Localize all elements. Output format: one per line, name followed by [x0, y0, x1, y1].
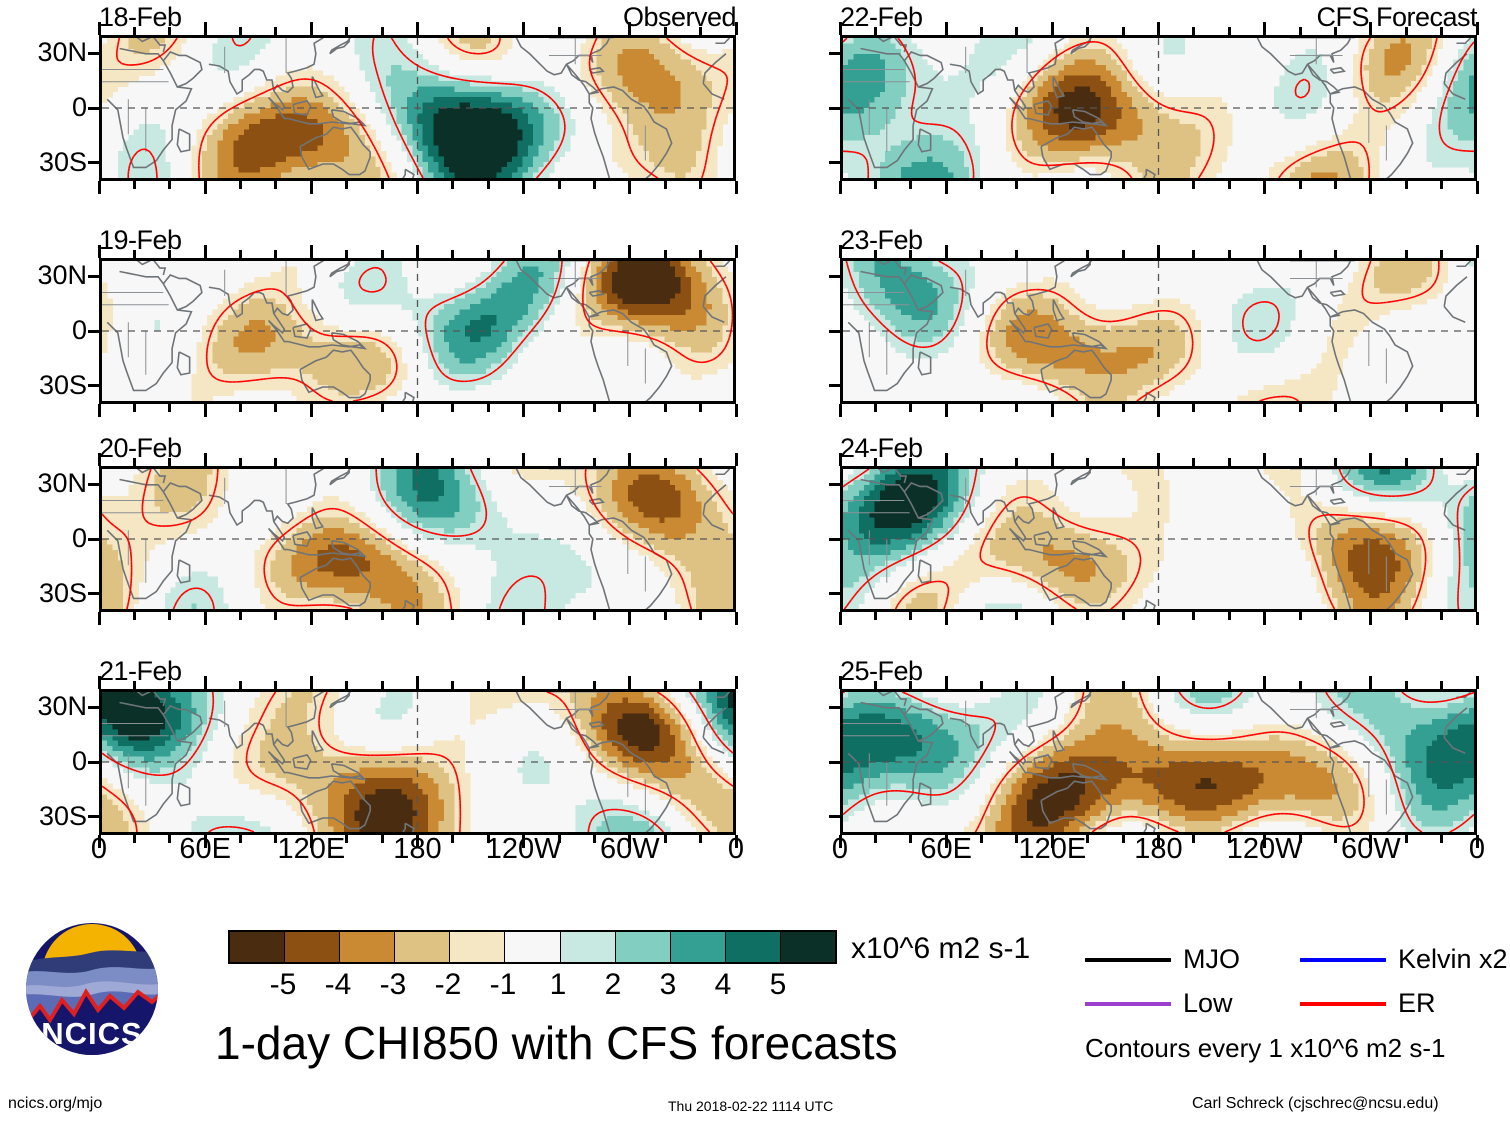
- x-tick: [1334, 681, 1337, 689]
- x-tick: [628, 404, 631, 417]
- x-tick: [487, 458, 490, 466]
- x-tick: [345, 250, 348, 258]
- x-tick: [1086, 681, 1089, 689]
- legend-label: MJO: [1183, 946, 1240, 973]
- map-canvas: [840, 258, 1477, 404]
- x-tick: [1157, 245, 1160, 258]
- x-tick: [980, 681, 983, 689]
- y-tick: [88, 706, 100, 709]
- x-tick: [1228, 458, 1231, 466]
- x-tick: [1122, 250, 1125, 258]
- x-tick: [874, 458, 877, 466]
- x-tick: [909, 404, 912, 412]
- x-tick: [664, 250, 667, 258]
- x-tick: [274, 681, 277, 689]
- map-panel-18-feb: 18-FebObserved30N030S: [99, 35, 736, 181]
- x-tick: [1086, 404, 1089, 412]
- x-tick: [204, 404, 207, 417]
- x-axis-label: 60W: [1341, 835, 1401, 864]
- y-axis-label: 30S: [3, 149, 87, 176]
- y-tick: [88, 52, 100, 55]
- x-tick: [239, 612, 242, 620]
- map-panel-24-feb: 24-Feb: [840, 466, 1477, 612]
- x-tick: [381, 404, 384, 412]
- x-tick: [1334, 27, 1337, 35]
- x-tick: [839, 612, 842, 625]
- x-tick: [345, 27, 348, 35]
- y-tick: [829, 275, 841, 278]
- y-axis-label: 0: [3, 317, 87, 344]
- x-tick: [874, 681, 877, 689]
- colorbar-swatch: [615, 932, 670, 962]
- map-canvas: [99, 466, 736, 612]
- x-tick: [945, 453, 948, 466]
- x-tick: [628, 676, 631, 689]
- y-axis-label: 0: [3, 748, 87, 775]
- contour-interval-note: Contours every 1 x10^6 m2 s-1: [1085, 1035, 1445, 1061]
- x-tick: [1299, 250, 1302, 258]
- x-tick: [1369, 676, 1372, 689]
- y-tick: [829, 538, 841, 541]
- x-tick: [168, 458, 171, 466]
- x-tick: [664, 404, 667, 412]
- x-tick: [945, 612, 948, 625]
- x-tick: [133, 404, 136, 412]
- x-tick: [239, 27, 242, 35]
- x-tick: [239, 458, 242, 466]
- x-tick: [1051, 245, 1054, 258]
- x-tick: [1263, 245, 1266, 258]
- x-tick: [1051, 404, 1054, 417]
- y-axis-label: 0: [3, 525, 87, 552]
- x-tick: [909, 27, 912, 35]
- x-tick: [1263, 612, 1266, 625]
- x-tick: [1476, 22, 1479, 35]
- x-tick: [310, 181, 313, 194]
- x-tick: [1369, 181, 1372, 194]
- x-tick: [1192, 681, 1195, 689]
- x-tick: [204, 181, 207, 194]
- colorbar-swatch: [230, 932, 284, 962]
- y-tick: [88, 815, 100, 818]
- legend-label: ER: [1398, 990, 1436, 1017]
- x-tick: [945, 676, 948, 689]
- x-tick: [628, 22, 631, 35]
- x-tick: [98, 404, 101, 417]
- footer-timestamp: Thu 2018-02-22 1114 UTC: [668, 1098, 833, 1114]
- x-tick: [239, 681, 242, 689]
- x-tick: [522, 181, 525, 194]
- x-tick: [1263, 22, 1266, 35]
- x-tick: [699, 681, 702, 689]
- x-tick: [133, 458, 136, 466]
- colorbar-tick-label: -1: [490, 970, 517, 1000]
- x-tick: [593, 612, 596, 620]
- colorbar-swatch: [670, 932, 725, 962]
- x-tick: [345, 458, 348, 466]
- legend-line-swatch: [1300, 1002, 1386, 1006]
- figure-title: 1-day CHI850 with CFS forecasts: [215, 1020, 898, 1066]
- x-tick: [1157, 22, 1160, 35]
- x-tick: [1299, 681, 1302, 689]
- x-tick: [1440, 404, 1443, 412]
- colorbar-tick-label: -3: [380, 970, 407, 1000]
- colorbar-swatch: [339, 932, 394, 962]
- y-tick: [88, 161, 100, 164]
- x-tick: [980, 458, 983, 466]
- x-tick: [735, 245, 738, 258]
- x-tick: [839, 181, 842, 194]
- x-tick: [1405, 404, 1408, 412]
- x-tick: [558, 458, 561, 466]
- x-tick: [1228, 27, 1231, 35]
- x-tick: [1369, 22, 1372, 35]
- x-tick: [133, 681, 136, 689]
- colorbar-swatch: [449, 932, 504, 962]
- x-tick: [1405, 181, 1408, 189]
- x-tick: [1263, 181, 1266, 194]
- x-tick: [381, 612, 384, 620]
- x-tick: [1015, 181, 1018, 189]
- x-tick: [522, 676, 525, 689]
- x-tick: [310, 612, 313, 625]
- column-header-0: Observed: [623, 4, 736, 31]
- x-tick: [133, 27, 136, 35]
- map-canvas: [99, 258, 736, 404]
- x-tick: [1334, 458, 1337, 466]
- y-tick: [88, 384, 100, 387]
- x-tick: [699, 250, 702, 258]
- y-axis-label: 30N: [3, 693, 87, 720]
- x-tick: [381, 681, 384, 689]
- colorbar-tick-label: -5: [270, 970, 297, 1000]
- x-tick: [664, 181, 667, 189]
- x-tick: [1334, 250, 1337, 258]
- x-tick: [593, 27, 596, 35]
- x-tick: [1440, 27, 1443, 35]
- map-canvas: [840, 466, 1477, 612]
- x-tick: [1405, 681, 1408, 689]
- x-tick: [628, 612, 631, 625]
- y-axis-label: 30N: [3, 262, 87, 289]
- x-tick: [274, 27, 277, 35]
- x-tick: [416, 245, 419, 258]
- x-tick: [699, 612, 702, 620]
- x-tick: [593, 404, 596, 412]
- x-tick: [558, 27, 561, 35]
- x-tick: [874, 404, 877, 412]
- x-tick: [1192, 181, 1195, 189]
- x-tick: [1263, 453, 1266, 466]
- x-tick: [945, 22, 948, 35]
- x-tick: [1299, 458, 1302, 466]
- x-tick: [980, 27, 983, 35]
- x-tick: [735, 404, 738, 417]
- x-tick: [168, 681, 171, 689]
- x-tick: [558, 250, 561, 258]
- y-tick: [88, 592, 100, 595]
- x-tick: [1476, 404, 1479, 417]
- x-tick: [1369, 404, 1372, 417]
- x-tick: [1440, 458, 1443, 466]
- x-tick: [1015, 250, 1018, 258]
- x-tick: [98, 245, 101, 258]
- x-tick: [381, 250, 384, 258]
- x-tick: [1476, 453, 1479, 466]
- map-canvas: [99, 689, 736, 835]
- x-tick: [98, 22, 101, 35]
- x-tick: [1228, 681, 1231, 689]
- x-tick: [168, 181, 171, 189]
- x-axis-label: 0: [91, 835, 107, 864]
- x-tick: [664, 612, 667, 620]
- x-tick: [1015, 458, 1018, 466]
- x-tick: [1086, 181, 1089, 189]
- x-tick: [451, 250, 454, 258]
- x-tick: [310, 404, 313, 417]
- x-tick: [451, 458, 454, 466]
- x-tick: [1299, 612, 1302, 620]
- x-tick: [1299, 404, 1302, 412]
- x-tick: [839, 676, 842, 689]
- colorbar-tick-label: 1: [550, 970, 567, 1000]
- x-tick: [310, 245, 313, 258]
- x-tick: [98, 181, 101, 194]
- x-tick: [204, 22, 207, 35]
- x-tick: [204, 453, 207, 466]
- y-tick: [88, 483, 100, 486]
- x-tick: [381, 181, 384, 189]
- y-tick: [829, 761, 841, 764]
- y-tick: [829, 52, 841, 55]
- colorbar-tick-label: 4: [715, 970, 732, 1000]
- x-tick: [839, 245, 842, 258]
- x-tick: [1299, 181, 1302, 189]
- x-tick: [980, 181, 983, 189]
- x-tick: [416, 612, 419, 625]
- x-tick: [1334, 181, 1337, 189]
- x-tick: [451, 181, 454, 189]
- x-tick: [274, 612, 277, 620]
- colorbar-tick-label: -4: [325, 970, 352, 1000]
- colorbar-units-label: x10^6 m2 s-1: [851, 934, 1030, 964]
- x-axis-left: 060E120E180120W60W0: [99, 835, 736, 869]
- x-axis-label: 180: [1134, 835, 1182, 864]
- legend-label: Low: [1183, 990, 1233, 1017]
- legend-line-swatch: [1085, 958, 1171, 962]
- colorbar-tick-label: 2: [605, 970, 622, 1000]
- x-tick: [1015, 404, 1018, 412]
- x-tick: [558, 181, 561, 189]
- x-tick: [133, 612, 136, 620]
- x-tick: [1157, 453, 1160, 466]
- footer-left[interactable]: ncics.org/mjo: [8, 1096, 102, 1112]
- x-tick: [558, 681, 561, 689]
- x-tick: [1086, 612, 1089, 620]
- x-tick: [1051, 22, 1054, 35]
- x-tick: [593, 181, 596, 189]
- x-tick: [381, 458, 384, 466]
- legend-label: Kelvin x2: [1398, 946, 1508, 973]
- x-tick: [1192, 612, 1195, 620]
- x-axis-label: 60W: [600, 835, 660, 864]
- legend-line-swatch: [1085, 1002, 1171, 1006]
- x-tick: [1122, 612, 1125, 620]
- x-axis-label: 0: [832, 835, 848, 864]
- x-tick: [274, 250, 277, 258]
- x-tick: [558, 404, 561, 412]
- y-tick: [829, 330, 841, 333]
- x-tick: [1405, 250, 1408, 258]
- x-tick: [628, 453, 631, 466]
- x-tick: [451, 681, 454, 689]
- x-tick: [274, 404, 277, 412]
- x-tick: [1157, 404, 1160, 417]
- x-tick: [1228, 181, 1231, 189]
- x-tick: [274, 181, 277, 189]
- x-tick: [874, 612, 877, 620]
- y-axis-label: 30S: [3, 372, 87, 399]
- map-panel-19-feb: 19-Feb30N030S: [99, 258, 736, 404]
- x-tick: [909, 681, 912, 689]
- x-tick: [945, 181, 948, 194]
- x-tick: [1228, 250, 1231, 258]
- x-tick: [664, 27, 667, 35]
- x-tick: [699, 404, 702, 412]
- x-axis-label: 120E: [1018, 835, 1086, 864]
- x-tick: [839, 404, 842, 417]
- x-tick: [1334, 612, 1337, 620]
- x-tick: [522, 245, 525, 258]
- legend-line-swatch: [1300, 958, 1386, 962]
- x-tick: [735, 676, 738, 689]
- x-tick: [699, 458, 702, 466]
- x-axis-right: 060E120E180120W60W0: [840, 835, 1477, 869]
- x-axis-label: 0: [1469, 835, 1485, 864]
- x-tick: [1086, 27, 1089, 35]
- y-tick: [829, 706, 841, 709]
- x-tick: [945, 245, 948, 258]
- x-axis-label: 120W: [1227, 835, 1303, 864]
- x-tick: [909, 458, 912, 466]
- x-tick: [1405, 612, 1408, 620]
- y-axis-label: 30S: [3, 803, 87, 830]
- x-tick: [1157, 612, 1160, 625]
- x-tick: [945, 404, 948, 417]
- x-tick: [1015, 612, 1018, 620]
- x-tick: [1192, 458, 1195, 466]
- x-tick: [1051, 453, 1054, 466]
- y-tick: [88, 330, 100, 333]
- x-tick: [1228, 404, 1231, 412]
- map-panel-22-feb: 22-FebCFS Forecast: [840, 35, 1477, 181]
- x-tick: [1051, 181, 1054, 194]
- footer-author: Carl Schreck (cjschrec@ncsu.edu): [1192, 1096, 1439, 1112]
- x-tick: [204, 676, 207, 689]
- x-tick: [628, 245, 631, 258]
- x-tick: [168, 612, 171, 620]
- x-tick: [451, 27, 454, 35]
- x-tick: [735, 612, 738, 625]
- colorbar-tick-label: -2: [435, 970, 462, 1000]
- x-tick: [522, 453, 525, 466]
- y-tick: [829, 384, 841, 387]
- x-tick: [204, 612, 207, 625]
- x-tick: [1122, 181, 1125, 189]
- x-tick: [1440, 612, 1443, 620]
- map-canvas: [840, 689, 1477, 835]
- x-tick: [416, 404, 419, 417]
- x-tick: [874, 181, 877, 189]
- x-tick: [593, 681, 596, 689]
- x-tick: [909, 612, 912, 620]
- x-tick: [487, 612, 490, 620]
- y-tick: [829, 107, 841, 110]
- x-axis-label: 120E: [277, 835, 345, 864]
- x-axis-label: 180: [393, 835, 441, 864]
- y-tick: [88, 107, 100, 110]
- x-tick: [133, 181, 136, 189]
- x-tick: [980, 612, 983, 620]
- y-axis-label: 30S: [3, 580, 87, 607]
- x-tick: [874, 250, 877, 258]
- map-panel-20-feb: 20-Feb30N030S: [99, 466, 736, 612]
- x-tick: [909, 250, 912, 258]
- x-tick: [699, 27, 702, 35]
- x-tick: [487, 181, 490, 189]
- x-tick: [416, 22, 419, 35]
- legend-item-low: Low: [1085, 990, 1233, 1017]
- x-tick: [628, 181, 631, 194]
- y-tick: [829, 483, 841, 486]
- x-tick: [1263, 404, 1266, 417]
- x-tick: [98, 612, 101, 625]
- x-axis-label: 60E: [920, 835, 972, 864]
- x-tick: [735, 181, 738, 194]
- x-tick: [1476, 245, 1479, 258]
- x-axis-label: 0: [728, 835, 744, 864]
- x-tick: [1122, 404, 1125, 412]
- x-tick: [168, 27, 171, 35]
- y-tick: [829, 592, 841, 595]
- x-tick: [239, 404, 242, 412]
- y-axis-label: 30N: [3, 39, 87, 66]
- x-tick: [204, 245, 207, 258]
- x-tick: [735, 22, 738, 35]
- x-tick: [98, 453, 101, 466]
- x-tick: [416, 676, 419, 689]
- x-tick: [1086, 250, 1089, 258]
- legend-item-er: ER: [1300, 990, 1436, 1017]
- x-tick: [1122, 458, 1125, 466]
- x-tick: [1405, 27, 1408, 35]
- colorbar-tick-label: 3: [660, 970, 677, 1000]
- colorbar-tick-label: 5: [770, 970, 787, 1000]
- x-tick: [522, 22, 525, 35]
- x-tick: [168, 250, 171, 258]
- y-axis-label: 0: [3, 94, 87, 121]
- x-tick: [133, 250, 136, 258]
- x-tick: [168, 404, 171, 412]
- map-canvas: [840, 35, 1477, 181]
- x-tick: [874, 27, 877, 35]
- x-tick: [1228, 612, 1231, 620]
- x-tick: [487, 27, 490, 35]
- x-tick: [1476, 676, 1479, 689]
- x-tick: [1369, 612, 1372, 625]
- x-tick: [416, 453, 419, 466]
- x-tick: [735, 453, 738, 466]
